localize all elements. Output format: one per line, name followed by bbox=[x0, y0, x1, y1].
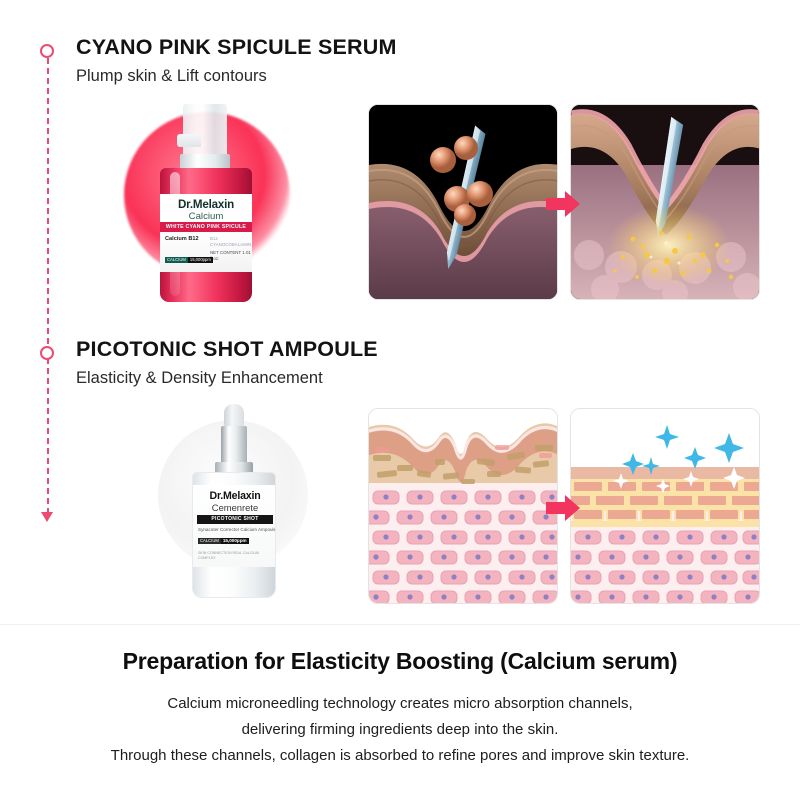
section-1-subtitle: Plump skin & Lift contours bbox=[76, 67, 397, 85]
panel-calcium-particles-released bbox=[570, 104, 760, 300]
cyano-pink-spicule-serum-bottle: Dr.Melaxin Calcium WHITE CYANO PINK SPIC… bbox=[154, 104, 258, 304]
label-band: PICOTONIC SHOT bbox=[197, 515, 273, 524]
ingredient-text: Calcium B12 bbox=[165, 236, 199, 244]
chip-right-label: 15,000ppm bbox=[188, 257, 213, 263]
footer-line-1: Calcium microneedling technology creates… bbox=[0, 691, 800, 717]
product-line: Cemenrete bbox=[193, 503, 276, 512]
footer-title: Preparation for Elasticity Boosting (Cal… bbox=[0, 648, 800, 675]
picotonic-shot-ampoule-bottle: Dr.Melaxin Cemenrete PICOTONIC SHOT Syna… bbox=[182, 404, 286, 600]
product-2-image: Dr.Melaxin Cemenrete PICOTONIC SHOT Syna… bbox=[140, 398, 320, 603]
section-2-subtitle: Elasticity & Density Enhancement bbox=[76, 369, 378, 387]
wrinkled-skin-diagram bbox=[369, 409, 558, 604]
brand-name: Dr.Melaxin bbox=[160, 199, 252, 211]
pore-needle-illustration bbox=[369, 105, 558, 300]
section-1-title: CYANO PINK SPICULE SERUM bbox=[76, 36, 397, 60]
chip-right-label: 15,000ppm bbox=[221, 538, 249, 545]
panel-microneedle-entering-pore bbox=[368, 104, 558, 300]
panel-wrinkled-skin bbox=[368, 408, 558, 604]
firm-skin-diagram bbox=[571, 409, 760, 604]
timeline-marker-1 bbox=[40, 44, 54, 58]
side-note-text: B12 CYANOCOBALAMIN bbox=[210, 236, 252, 248]
infographic-page: CYANO PINK SPICULE SERUM Plump skin & Li… bbox=[0, 0, 800, 800]
footer-body: Calcium microneedling technology creates… bbox=[0, 691, 800, 768]
product-1-image: Dr.Melaxin Calcium WHITE CYANO PINK SPIC… bbox=[96, 104, 311, 309]
bottle-body: Dr.Melaxin Cemenrete PICOTONIC SHOT Syna… bbox=[192, 472, 276, 598]
arrow-right-icon-2 bbox=[546, 493, 580, 523]
pump-nozzle bbox=[177, 134, 201, 147]
chip-left-label: CALCIUM bbox=[198, 538, 221, 544]
arrow-shape bbox=[546, 493, 580, 523]
section-2-title: PICOTONIC SHOT AMPOULE bbox=[76, 338, 378, 362]
bottle-label: Dr.Melaxin Calcium WHITE CYANO PINK SPIC… bbox=[160, 194, 252, 272]
footer-block: Preparation for Elasticity Boosting (Cal… bbox=[0, 648, 800, 768]
timeline-connector bbox=[38, 40, 58, 530]
timeline-dashed-line bbox=[47, 48, 49, 514]
ppm-chip: CALCIUM 15,000ppm bbox=[165, 256, 213, 264]
section-2-heading: PICOTONIC SHOT AMPOULE Elasticity & Dens… bbox=[76, 338, 378, 387]
bottle-body: Dr.Melaxin Calcium WHITE CYANO PINK SPIC… bbox=[160, 168, 252, 302]
footer-line-2: delivering firming ingredients deep into… bbox=[0, 717, 800, 743]
bottle-label: Dr.Melaxin Cemenrete PICOTONIC SHOT Syna… bbox=[193, 485, 276, 567]
pore-particles-illustration bbox=[571, 105, 760, 300]
section-1-heading: CYANO PINK SPICULE SERUM Plump skin & Li… bbox=[76, 36, 397, 85]
net-content-text: NET CONTENT 1.01 fl.oz. bbox=[210, 250, 252, 262]
product-line: Calcium bbox=[160, 212, 252, 222]
pump-cap bbox=[183, 104, 227, 158]
panel-firm-skin bbox=[570, 408, 760, 604]
label-band: WHITE CYANO PINK SPICULE bbox=[160, 222, 252, 232]
arrow-right-icon-1 bbox=[546, 189, 580, 219]
timeline-marker-2 bbox=[40, 346, 54, 360]
product-description: Synacoter Corrector Calcium Ampoule bbox=[198, 527, 276, 533]
ppm-chip: CALCIUM 15,000ppm bbox=[198, 537, 249, 545]
footer-line-3: Through these channels, collagen is abso… bbox=[0, 743, 800, 769]
dropper-neck bbox=[221, 426, 247, 466]
brand-name: Dr.Melaxin bbox=[193, 491, 276, 502]
section-divider bbox=[0, 624, 800, 625]
fine-print: SKIN CONNECTION REAL CALCIUM COMPLEX bbox=[198, 551, 276, 560]
timeline-arrow-icon bbox=[41, 512, 53, 522]
dropper-bulb bbox=[224, 404, 244, 428]
arrow-shape bbox=[546, 189, 580, 219]
chip-left-label: CALCIUM bbox=[165, 257, 188, 263]
